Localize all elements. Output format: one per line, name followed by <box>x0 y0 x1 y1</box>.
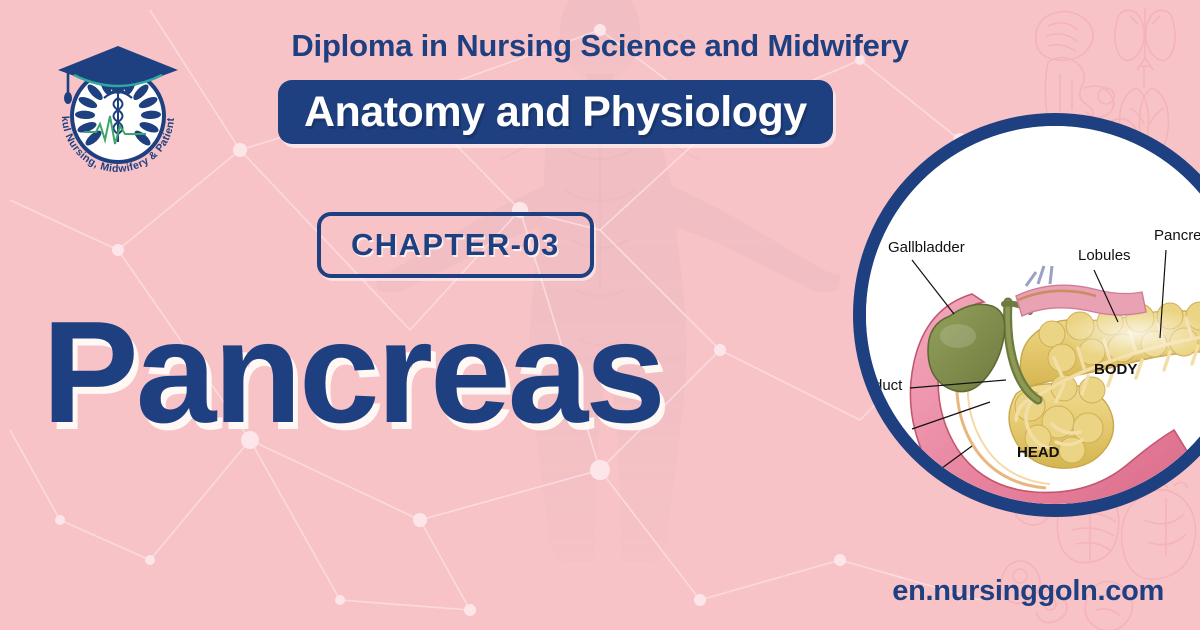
program-kicker: Diploma in Nursing Science and Midwifery <box>250 28 950 64</box>
chapter-label: CHAPTER-03 <box>351 227 560 263</box>
poster-canvas: Gurukul Nursing, Midwifery & Patient Car… <box>0 0 1200 630</box>
chapter-badge: CHAPTER-03 <box>317 212 594 278</box>
pancreas-anatomy-diagram: Gallbladder Lobules Pancreatic duct duct… <box>866 126 1200 504</box>
label-body: BODY <box>1094 361 1137 378</box>
label-lobules: Lobules <box>1078 247 1131 264</box>
label-gallbladder: Gallbladder <box>888 239 965 256</box>
label-pancreatic-duct: Pancreatic duct <box>1154 227 1200 244</box>
site-url: en.nursinggoln.com <box>892 575 1164 608</box>
page-title: Pancreas <box>42 300 663 445</box>
label-bile-duct: duct <box>874 377 903 394</box>
gurukul-nursing-logo: Gurukul Nursing, Midwifery & Patient Car… <box>42 28 194 180</box>
subject-label: Anatomy and Physiology <box>304 88 807 137</box>
label-head: HEAD <box>1017 444 1060 461</box>
pancreas-illustration-circle: Gallbladder Lobules Pancreatic duct duct… <box>853 113 1200 517</box>
subject-band: Anatomy and Physiology <box>278 80 833 144</box>
